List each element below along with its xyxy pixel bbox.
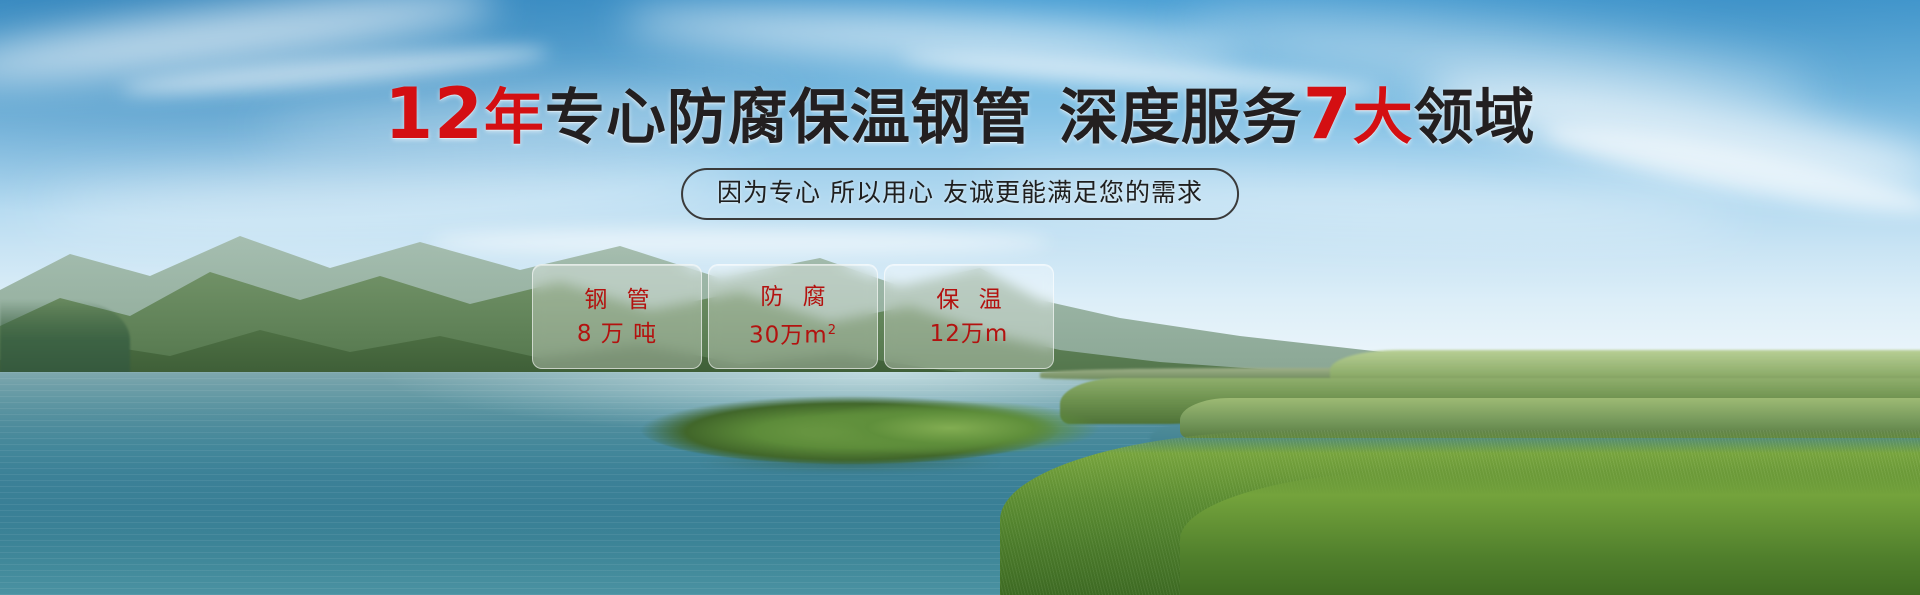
years-unit: 年 (484, 83, 545, 153)
stat-card-value: 12万m (930, 322, 1009, 346)
stat-card-steel-pipe[interactable]: 钢 管 8 万 吨 (532, 264, 702, 369)
fields-unit: 大 (1353, 83, 1414, 153)
hero-banner: 12年专心防腐保温钢管深度服务7大领域 因为专心 所以用心 友诚更能满足您的需求… (0, 0, 1920, 595)
fields-number: 7 (1303, 73, 1353, 155)
stat-card-value: 30万m2 (749, 319, 837, 348)
stat-card-label: 保 温 (930, 288, 1007, 312)
stat-card-anticorrosion[interactable]: 防 腐 30万m2 (708, 264, 878, 369)
headline-main: 专心防腐保温钢管 (545, 83, 1033, 153)
stat-card-insulation[interactable]: 保 温 12万m (884, 264, 1054, 369)
stat-value-text: 12万m (930, 321, 1009, 347)
fields-tail: 领域 (1414, 83, 1536, 153)
years-number: 12 (384, 73, 483, 155)
stat-card-value: 8 万 吨 (577, 322, 657, 346)
grass-island-highlight (800, 400, 1100, 456)
stat-value-superscript: 2 (828, 323, 837, 338)
slogan-pill: 因为专心 所以用心 友诚更能满足您的需求 (681, 168, 1239, 220)
stat-card-label: 钢 管 (578, 288, 655, 312)
stat-value-text: 8 万 吨 (577, 321, 657, 347)
stat-card-group: 钢 管 8 万 吨 防 腐 30万m2 保 温 12万m (532, 264, 1054, 369)
foreground-grass-near (1180, 470, 1920, 595)
page-title: 12年专心防腐保温钢管深度服务7大领域 (0, 82, 1920, 150)
stat-card-label: 防 腐 (754, 285, 831, 309)
headline-service: 深度服务 (1059, 83, 1303, 153)
stat-value-text: 30万m (749, 323, 828, 349)
